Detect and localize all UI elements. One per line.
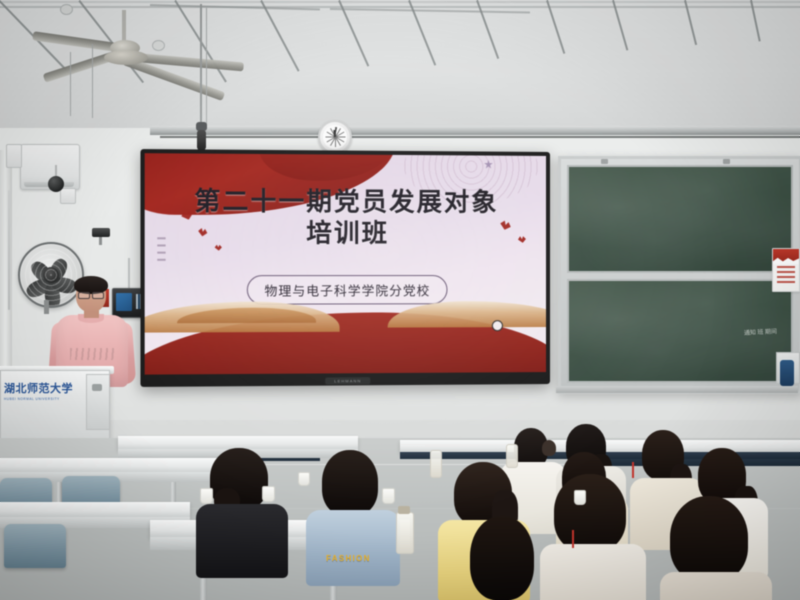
wall-clock <box>318 120 352 154</box>
university-name-cn: 湖北师范大学 <box>4 384 82 395</box>
paper-cup-4 <box>298 472 310 486</box>
pen-1 <box>572 530 574 548</box>
ceiling-camera <box>92 228 110 237</box>
wall-box-blue <box>780 360 794 386</box>
blackboard-lower-panel: 通知 班 期间 <box>567 279 793 383</box>
seat-empty-3 <box>4 524 66 568</box>
pen-2 <box>632 462 634 478</box>
university-name-en: HUBEI NORMAL UNIVERSITY <box>4 397 82 401</box>
fan-power-cable <box>8 190 10 310</box>
slide-title: 第二十一期党员发展对象 培训班 <box>145 186 546 249</box>
shirt-text: FASHION <box>326 554 371 563</box>
paper-cup-3 <box>382 488 395 504</box>
slide-content: 第二十一期党员发展对象 培训班 物理与电子科学学院分党校 2025年05月24日 <box>145 153 546 374</box>
paper-cup-1 <box>200 488 213 504</box>
water-bottle-1 <box>396 512 414 554</box>
podium-nameplate: 湖北师范大学 HUBEI NORMAL UNIVERSITY <box>4 384 82 406</box>
wall-fan-stem <box>44 300 49 314</box>
screen-housing-bar <box>150 126 800 135</box>
podium-side-cabinet <box>86 374 110 430</box>
display-brand-label: LEHMANN <box>334 378 361 383</box>
paper-cup-2 <box>262 486 275 502</box>
mountain-graphic-right <box>388 301 546 328</box>
electrical-box-upper <box>6 144 22 168</box>
chalk-ledge <box>556 386 798 393</box>
presentation-display[interactable]: 第二十一期党员发展对象 培训班 物理与电子科学学院分党校 2025年05月24日… <box>140 149 550 387</box>
camera-mount <box>99 237 102 245</box>
display-bezel: 第二十一期党员发展对象 培训班 物理与电子科学学院分党校 2025年05月24日 <box>145 153 546 374</box>
slide-subtitle-pill: 物理与电子科学学院分党校 <box>247 275 448 305</box>
water-bottle-3 <box>506 444 518 468</box>
safety-notice-poster <box>772 248 800 292</box>
chalk-note: 通知 班 期间 <box>744 328 777 338</box>
wall-speaker <box>48 176 64 192</box>
slide-dot-marker <box>492 320 503 331</box>
electrical-box-lower <box>60 188 76 204</box>
blackboard: 通知 班 期间 <box>558 156 800 394</box>
classroom-photo: 第二十一期党员发展对象 培训班 物理与电子科学学院分党校 2025年05月24日… <box>0 0 800 600</box>
blackboard-upper-panel <box>567 165 793 273</box>
desk-row-mid-2 <box>0 502 190 518</box>
water-bottle-2 <box>430 450 442 478</box>
glasses-icon <box>78 292 104 297</box>
podium-handle[interactable] <box>92 384 102 391</box>
slide-title-line2: 培训班 <box>145 218 546 250</box>
slide-subtitle: 物理与电子科学学院分党校 <box>264 280 430 299</box>
slide-title-line1: 第二十一期党员发展对象 <box>194 187 498 218</box>
housing-shadow-line <box>160 136 800 138</box>
paper-cup-5 <box>574 490 586 505</box>
